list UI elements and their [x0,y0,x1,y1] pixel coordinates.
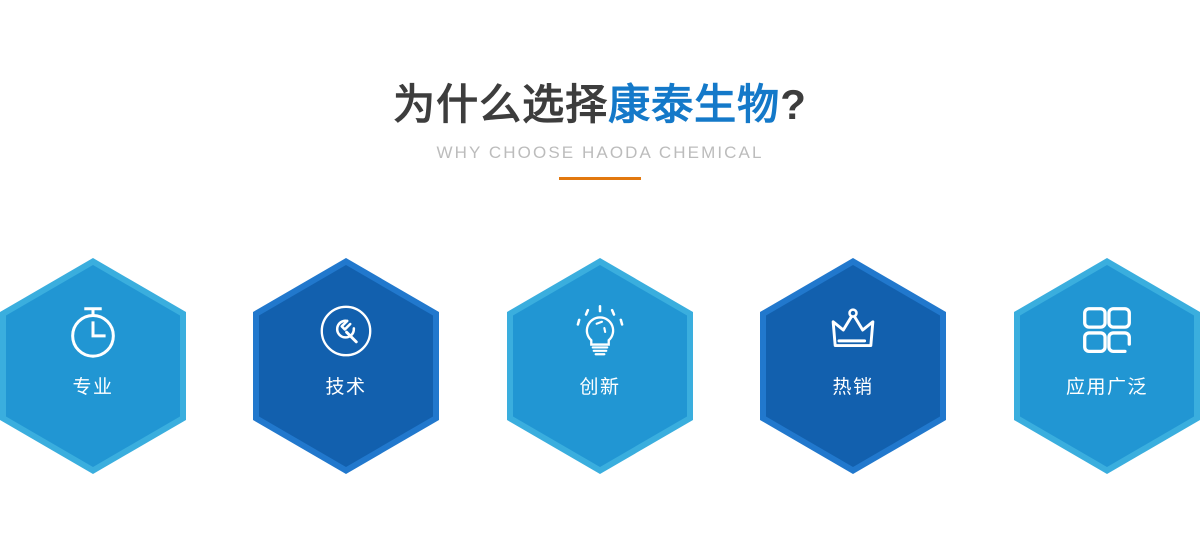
wrench-circle-icon [315,300,377,362]
divider-wrap [0,177,1200,181]
feature-hexagon-bestseller[interactable]: 热销 [760,258,946,474]
title-question-mark: ? [780,81,807,128]
stopwatch-icon [62,300,124,362]
feature-hexagon-row: 专业 技术 [0,258,1200,474]
crown-icon [822,300,884,362]
hexagon-content: 热销 [760,258,946,474]
hexagon-content: 技术 [253,258,439,474]
feature-hexagon-wide-application[interactable]: 应用广泛 [1014,258,1200,474]
feature-label: 专业 [72,376,113,400]
feature-label: 应用广泛 [1066,376,1148,400]
feature-hexagon-professional[interactable]: 专业 [0,258,186,474]
feature-hexagon-innovation[interactable]: 创新 [507,258,693,474]
feature-hexagon-technology[interactable]: 技术 [253,258,439,474]
title-prefix: 为什么选择 [393,81,608,128]
feature-label: 热销 [832,376,873,400]
feature-label: 技术 [325,376,366,400]
lightbulb-icon [569,300,631,362]
grid-four-icon [1076,300,1138,362]
page-title: 为什么选择康泰生物? [0,78,1200,132]
section-subtitle: WHY CHOOSE HAODA CHEMICAL [0,142,1200,164]
hexagon-content: 应用广泛 [1014,258,1200,474]
feature-label: 创新 [579,376,620,400]
section-heading: 为什么选择康泰生物? WHY CHOOSE HAODA CHEMICAL [0,78,1200,181]
title-divider [559,177,641,180]
hexagon-content: 创新 [507,258,693,474]
hexagon-content: 专业 [0,258,186,474]
why-choose-us-section: 为什么选择康泰生物? WHY CHOOSE HAODA CHEMICAL [0,0,1200,560]
title-accent: 康泰生物 [608,81,780,128]
